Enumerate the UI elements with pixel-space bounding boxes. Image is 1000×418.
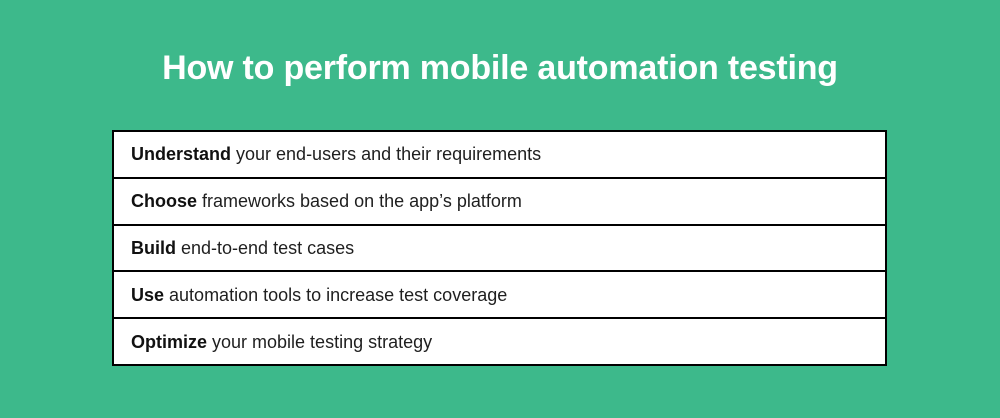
step-text: Choose frameworks based on the app’s pla… <box>131 190 522 212</box>
page-title: How to perform mobile automation testing <box>0 46 1000 90</box>
step-rest-text: automation tools to increase test covera… <box>164 285 507 305</box>
table-row: Choose frameworks based on the app’s pla… <box>114 179 885 226</box>
step-text: Use automation tools to increase test co… <box>131 284 507 306</box>
infographic-canvas: How to perform mobile automation testing… <box>0 0 1000 418</box>
step-lead-word: Choose <box>131 191 197 211</box>
table-row: Build end-to-end test cases <box>114 226 885 273</box>
step-lead-word: Build <box>131 238 176 258</box>
step-text: Build end-to-end test cases <box>131 237 354 259</box>
step-text: Optimize your mobile testing strategy <box>131 331 432 353</box>
step-rest-text: end-to-end test cases <box>176 238 354 258</box>
steps-table: Understand your end-users and their requ… <box>112 130 887 366</box>
step-rest-text: your end-users and their requirements <box>231 144 541 164</box>
step-text: Understand your end-users and their requ… <box>131 143 541 165</box>
step-rest-text: your mobile testing strategy <box>207 332 432 352</box>
step-lead-word: Use <box>131 285 164 305</box>
table-row: Use automation tools to increase test co… <box>114 272 885 319</box>
step-lead-word: Understand <box>131 144 231 164</box>
table-row: Optimize your mobile testing strategy <box>114 319 885 364</box>
step-rest-text: frameworks based on the app’s platform <box>197 191 522 211</box>
table-row: Understand your end-users and their requ… <box>114 132 885 179</box>
step-lead-word: Optimize <box>131 332 207 352</box>
